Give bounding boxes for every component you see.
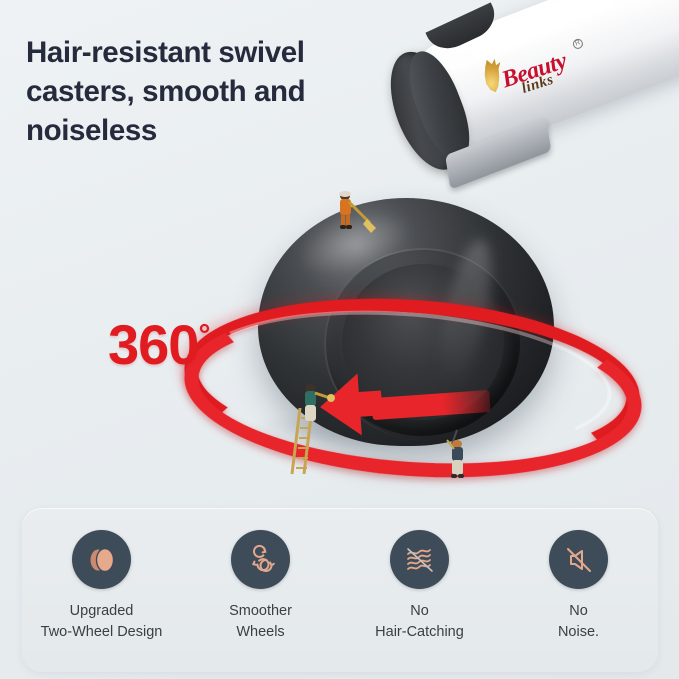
page-title: Hair-resistant swivel casters, smooth an…: [26, 33, 386, 151]
product-feature-image: Hair-resistant swivel casters, smooth an…: [0, 0, 679, 679]
registered-mark-icon: R: [572, 38, 585, 51]
feature-item-two-wheel: Upgraded Two-Wheel Design: [27, 530, 177, 642]
arrow-tail: [371, 390, 490, 420]
two-wheel-icon: [72, 530, 131, 589]
no-hair-catching-icon: [390, 530, 449, 589]
rotation-degree-value: 360: [108, 313, 198, 376]
feature-list: Upgraded Two-Wheel Design Smoother Wheel…: [22, 508, 658, 672]
feature-label: Upgraded Two-Wheel Design: [41, 601, 163, 642]
figurine-worker: [443, 428, 471, 480]
mute-icon: [549, 530, 608, 589]
rotating-wheels-icon: [231, 530, 290, 589]
figurine-on-ladder: [290, 378, 348, 476]
figurine-sweeper: [325, 188, 377, 236]
feature-item-smoother-wheels: Smoother Wheels: [186, 530, 336, 642]
feature-label: No Noise.: [558, 601, 599, 642]
rotation-degree-label: 360°: [108, 312, 210, 377]
feature-label: No Hair-Catching: [375, 601, 464, 642]
feature-item-no-noise: No Noise.: [504, 530, 654, 642]
feature-item-no-hair-catching: No Hair-Catching: [345, 530, 495, 642]
degree-symbol: °: [198, 318, 210, 351]
feature-label: Smoother Wheels: [229, 601, 292, 642]
feature-card: Upgraded Two-Wheel Design Smoother Wheel…: [22, 508, 658, 672]
